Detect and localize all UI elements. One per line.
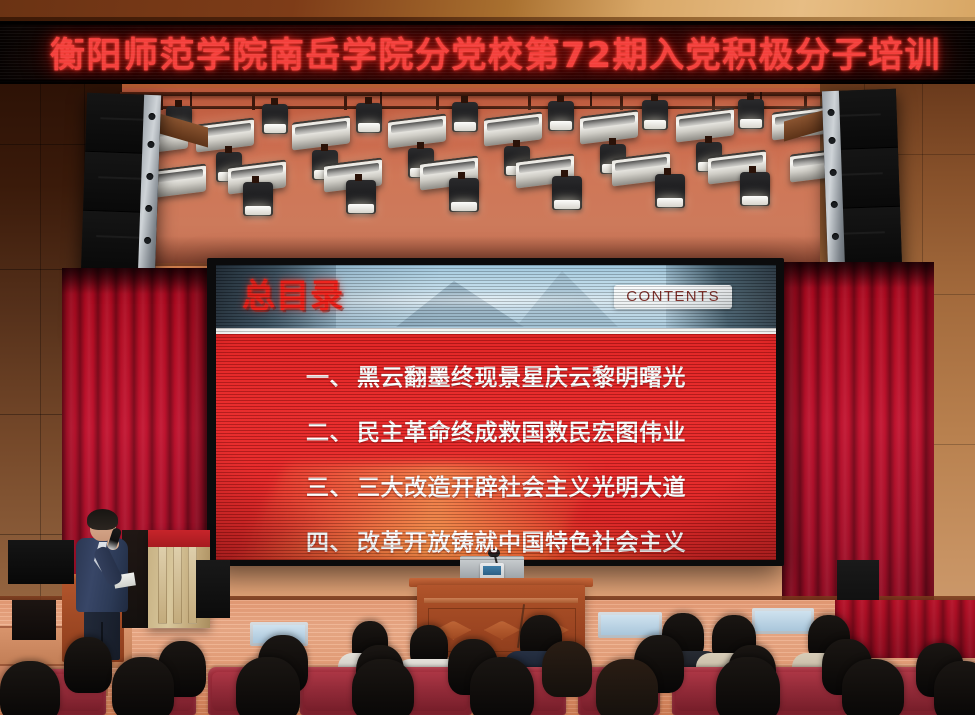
par-can-light xyxy=(642,100,668,130)
audience-head xyxy=(716,657,780,715)
list-item: 二、 民主革命终成救国救民宏图伟业 xyxy=(306,413,686,447)
audience-head xyxy=(542,641,592,697)
presenter-hair xyxy=(87,509,118,530)
toc-number: 四、 xyxy=(306,523,353,557)
laptop xyxy=(598,612,662,638)
par-can-light xyxy=(262,104,288,134)
banner-text: 衡阳师范学院南岳学院分党校第72期入党积极分子培训 xyxy=(0,21,975,84)
slide-title: 总目录 xyxy=(242,279,344,312)
list-item: 一、 黑云翻墨终现景星庆云黎明曙光 xyxy=(306,358,686,392)
wall-monitor xyxy=(8,540,74,584)
slide-body: 一、 黑云翻墨终现景星庆云黎明曙光 二、 民主革命终成救国救民宏图伟业 三、 三… xyxy=(216,334,776,560)
table-of-contents-list: 一、 黑云翻墨终现景星庆云黎明曙光 二、 民主革命终成救国救民宏图伟业 三、 三… xyxy=(216,358,776,557)
audience-head xyxy=(0,661,60,715)
toc-number: 一、 xyxy=(306,358,353,392)
audience-head xyxy=(236,657,300,715)
lighting-truss xyxy=(120,92,890,114)
par-can-light xyxy=(452,102,478,132)
audience-head xyxy=(64,637,112,693)
audience-head xyxy=(596,659,658,715)
toc-text: 三大改造开辟社会主义光明大道 xyxy=(357,468,686,502)
toc-text: 民主革命终成救国救民宏图伟业 xyxy=(357,413,686,447)
par-can-light xyxy=(346,180,376,214)
contents-badge: CONTENTS xyxy=(614,285,732,309)
list-item: 三、 三大改造开辟社会主义光明大道 xyxy=(306,468,686,502)
audience-head xyxy=(470,657,534,715)
par-can-light xyxy=(449,178,479,212)
lectern-rail xyxy=(424,598,578,603)
shelf-red-top xyxy=(148,530,210,547)
toc-text: 黑云翻墨终现景星庆云黎明曙光 xyxy=(357,358,686,392)
audience-head xyxy=(112,657,174,715)
par-can-light xyxy=(655,174,685,208)
par-can-light xyxy=(243,182,273,216)
led-screen-bezel: 总目录 CONTENTS 一、 黑云翻墨终现景星庆云黎明曙光 二、 民主革命终成… xyxy=(207,258,784,566)
par-can-light xyxy=(740,172,770,206)
banner-edge-top xyxy=(0,21,975,25)
audience-head xyxy=(352,659,414,715)
toc-text: 改革开放铸就中国特色社会主义 xyxy=(357,523,686,557)
par-can-light xyxy=(356,103,382,133)
par-can-light xyxy=(738,99,764,129)
toc-number: 二、 xyxy=(306,413,353,447)
floor-speaker-left xyxy=(196,560,230,618)
laptop xyxy=(752,608,814,634)
header-divider xyxy=(216,328,776,334)
led-banner: 衡阳师范学院南岳学院分党校第72期入党积极分子培训 xyxy=(0,21,975,84)
audience-head xyxy=(842,659,904,715)
par-can-light xyxy=(552,176,582,210)
toc-number: 三、 xyxy=(306,468,353,502)
audience xyxy=(0,612,975,715)
list-item: 四、 改革开放铸就中国特色社会主义 xyxy=(306,523,686,557)
led-screen: 总目录 CONTENTS 一、 黑云翻墨终现景星庆云黎明曙光 二、 民主革命终成… xyxy=(216,265,776,560)
par-can-light xyxy=(548,101,574,131)
auditorium-scene: 衡阳师范学院南岳学院分党校第72期入党积极分子培训 xyxy=(0,0,975,715)
